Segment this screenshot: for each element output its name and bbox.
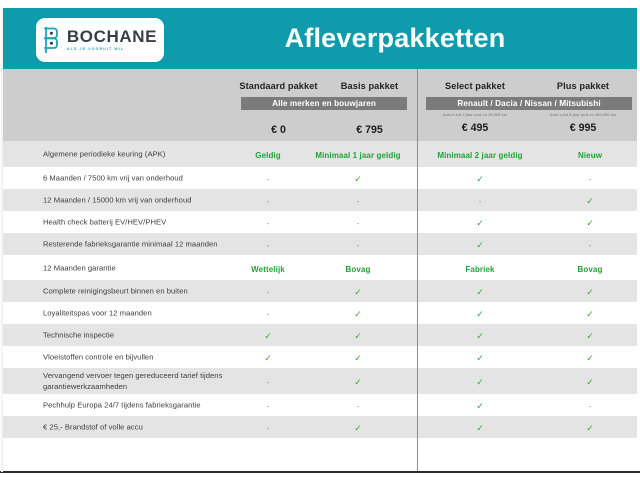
check-icon: ✓ — [476, 418, 484, 436]
package-price-basis: € 795 — [324, 124, 415, 136]
row-label: Loyaliteitspas voor 12 maanden — [43, 308, 233, 319]
row-label: 12 Maanden garantie — [43, 262, 233, 273]
package-name-plus: Plus pakket — [529, 81, 637, 91]
check-icon: ✓ — [476, 326, 484, 344]
package-subtitle-plus: Auto's tot 5 jaar oud en 100.000 km — [529, 112, 637, 117]
check-icon: ✓ — [476, 348, 484, 366]
afleverpakketten-page: Afleverpakketten BOCHANE ALS JE VOORUIT … — [0, 0, 640, 480]
check-icon: ✓ — [476, 213, 484, 231]
dash-icon: - — [267, 213, 269, 231]
package-group-right: Select pakket Plus pakket Renault / Daci… — [421, 69, 637, 141]
comparison-table-frame: Afleverpakketten BOCHANE ALS JE VOORUIT … — [3, 8, 637, 472]
check-icon: ✓ — [586, 304, 594, 322]
row-label: Complete reinigingsbeurt binnen en buite… — [43, 286, 233, 297]
cell-value: Bovag — [346, 259, 371, 277]
package-subtitle-select: Auto's tot 3 jaar oud en 30.000 km — [421, 112, 529, 117]
table-row: 12 Maanden garantieWettelijkBovagFabriek… — [3, 255, 637, 280]
package-group-left: Standaard pakket Basis pakket Alle merke… — [233, 69, 415, 141]
check-icon: ✓ — [586, 418, 594, 436]
cell-value: Fabriek — [465, 259, 494, 277]
row-label: Resterende fabrieksgarantie minimaal 12 … — [43, 239, 233, 250]
row-label: 12 Maanden / 15000 km vrij van onderhoud — [43, 195, 233, 206]
dash-icon: - — [479, 191, 481, 209]
dash-icon: - — [267, 396, 269, 414]
table-row: Health check batterij EV/HEV/PHEV--✓✓ — [3, 211, 637, 233]
table-row: € 25,- Brandstof of volle accu-✓✓✓ — [3, 416, 637, 438]
check-icon: ✓ — [586, 348, 594, 366]
dash-icon: - — [357, 213, 359, 231]
dash-icon: - — [267, 372, 269, 390]
dash-icon: - — [357, 396, 359, 414]
check-icon: ✓ — [354, 348, 362, 366]
table-row: 6 Maanden / 7500 km vrij van onderhoud-✓… — [3, 167, 637, 189]
group-pill-left: Alle merken en bouwjaren — [241, 97, 407, 110]
cell-value: Minimaal 1 jaar geldig — [315, 145, 400, 163]
dash-icon: - — [589, 169, 591, 187]
brand-logo: BOCHANE ALS JE VOORUIT WIL — [36, 18, 164, 62]
check-icon: ✓ — [476, 235, 484, 253]
table-row: Loyaliteitspas voor 12 maanden-✓✓✓ — [3, 302, 637, 324]
check-icon: ✓ — [586, 326, 594, 344]
page-header-banner: Afleverpakketten BOCHANE ALS JE VOORUIT … — [3, 8, 637, 69]
check-icon: ✓ — [586, 191, 594, 209]
check-icon: ✓ — [354, 169, 362, 187]
package-name-basis: Basis pakket — [324, 81, 415, 91]
dash-icon: - — [267, 418, 269, 436]
table-row: Resterende fabrieksgarantie minimaal 12 … — [3, 233, 637, 255]
table-row: 12 Maanden / 15000 km vrij van onderhoud… — [3, 189, 637, 211]
column-header-band: Standaard pakket Basis pakket Alle merke… — [3, 69, 637, 141]
check-icon: ✓ — [476, 169, 484, 187]
dash-icon: - — [267, 169, 269, 187]
cell-value: Minimaal 2 jaar geldig — [437, 145, 522, 163]
cell-value: Geldig — [255, 145, 281, 163]
table-row: Technische inspectie✓✓✓✓ — [3, 324, 637, 346]
group-divider — [417, 69, 418, 472]
cell-value: Bovag — [578, 259, 603, 277]
row-label: Vervangend vervoer tegen gereduceerd tar… — [43, 370, 233, 392]
row-label: Technische inspectie — [43, 330, 233, 341]
dash-icon: - — [267, 304, 269, 322]
package-price-standaard: € 0 — [233, 124, 324, 136]
row-label: Health check batterij EV/HEV/PHEV — [43, 217, 233, 228]
table-row: Complete reinigingsbeurt binnen en buite… — [3, 280, 637, 302]
dash-icon: - — [589, 235, 591, 253]
check-icon: ✓ — [476, 304, 484, 322]
feature-rows: Algemene periodieke keuring (APK)GeldigM… — [3, 141, 637, 438]
check-icon: ✓ — [264, 326, 272, 344]
package-price-plus: € 995 — [529, 122, 637, 134]
table-row: Vervangend vervoer tegen gereduceerd tar… — [3, 368, 637, 394]
check-icon: ✓ — [586, 282, 594, 300]
table-row: Vloeistoffen controle en bijvullen✓✓✓✓ — [3, 346, 637, 368]
row-label: 6 Maanden / 7500 km vrij van onderhoud — [43, 173, 233, 184]
row-label: Algemene periodieke keuring (APK) — [43, 149, 233, 160]
check-icon: ✓ — [476, 396, 484, 414]
row-label: Pechhulp Europa 24/7 tijdens fabrieksgar… — [43, 400, 233, 411]
check-icon: ✓ — [354, 418, 362, 436]
check-icon: ✓ — [586, 372, 594, 390]
check-icon: ✓ — [586, 213, 594, 231]
table-row: Pechhulp Europa 24/7 tijdens fabrieksgar… — [3, 394, 637, 416]
brand-tagline: ALS JE VOORUIT WIL — [67, 48, 124, 52]
check-icon: ✓ — [476, 372, 484, 390]
cell-value: Nieuw — [578, 145, 602, 163]
cell-value: Wettelijk — [251, 259, 285, 277]
key-card-icon — [43, 27, 62, 53]
package-name-select: Select pakket — [421, 81, 529, 91]
check-icon: ✓ — [264, 348, 272, 366]
brand-name: BOCHANE — [67, 28, 157, 45]
check-icon: ✓ — [354, 282, 362, 300]
dash-icon: - — [267, 282, 269, 300]
table-footer-space — [3, 448, 637, 472]
package-price-select: € 495 — [421, 122, 529, 134]
dash-icon: - — [267, 191, 269, 209]
table-row: Algemene periodieke keuring (APK)GeldigM… — [3, 141, 637, 167]
bottom-border — [0, 471, 640, 473]
group-pill-right: Renault / Dacia / Nissan / Mitsubishi — [426, 97, 632, 110]
check-icon: ✓ — [476, 282, 484, 300]
row-label: Vloeistoffen controle en bijvullen — [43, 352, 233, 363]
dash-icon: - — [589, 396, 591, 414]
row-label: € 25,- Brandstof of volle accu — [43, 422, 233, 433]
dash-icon: - — [357, 191, 359, 209]
check-icon: ✓ — [354, 372, 362, 390]
package-name-standaard: Standaard pakket — [233, 81, 324, 91]
dash-icon: - — [267, 235, 269, 253]
check-icon: ✓ — [354, 326, 362, 344]
check-icon: ✓ — [354, 304, 362, 322]
left-border — [1, 8, 3, 472]
dash-icon: - — [357, 235, 359, 253]
